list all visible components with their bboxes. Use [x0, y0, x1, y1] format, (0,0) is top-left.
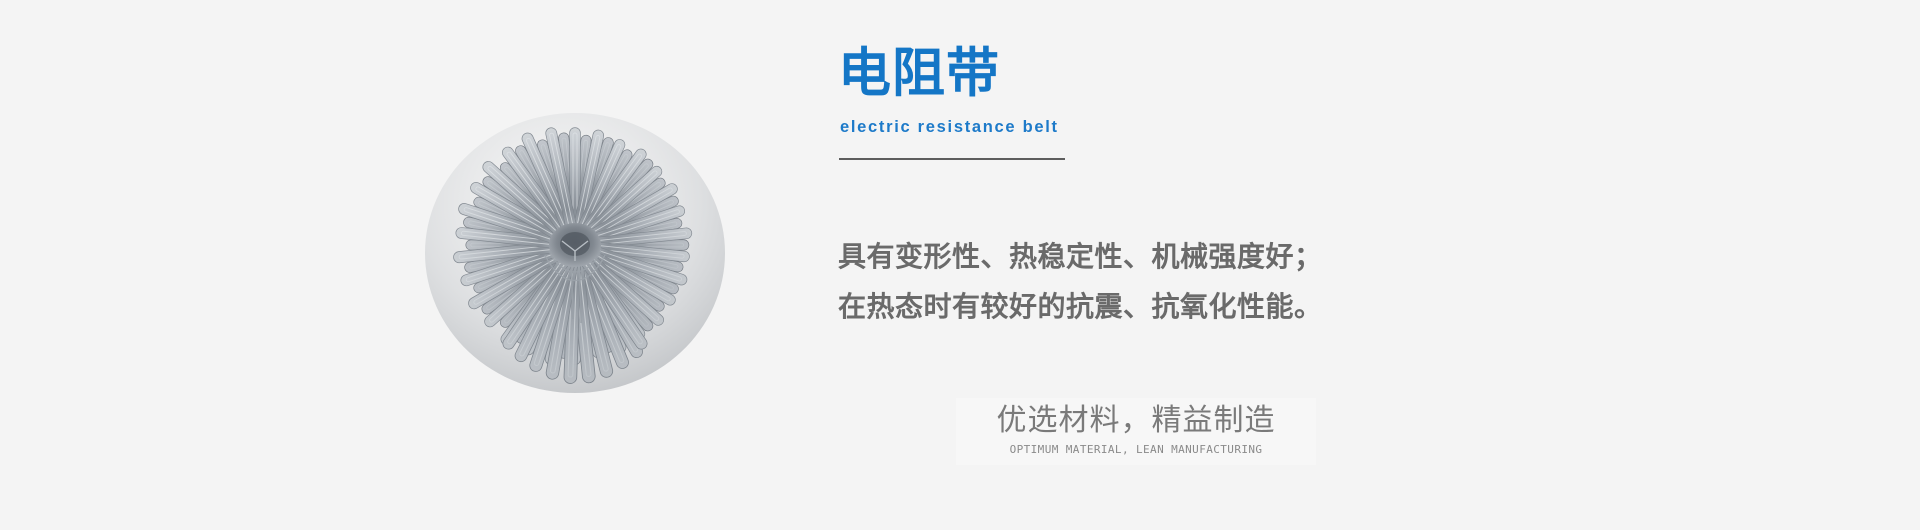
tagline-block: 优选材料，精益制造 OPTIMUM MATERIAL, LEAN MANUFAC…: [956, 398, 1316, 465]
banner-content: 电阻带 electric resistance belt 具有变形性、热稳定性、…: [838, 0, 1738, 530]
heading-block: 电阻带 electric resistance belt: [838, 45, 1438, 160]
page-title: 电阻带: [838, 45, 1438, 103]
product-image: [355, 55, 795, 475]
page-subtitle: electric resistance belt: [840, 117, 1438, 137]
tagline-chinese: 优选材料，精益制造: [966, 402, 1306, 440]
tagline-english: OPTIMUM MATERIAL, LEAN MANUFACTURING: [966, 443, 1306, 457]
product-description: 具有变形性、热稳定性、机械强度好； 在热态时有较好的抗震、抗氧化性能。: [838, 232, 1478, 332]
product-banner: 电阻带 electric resistance belt 具有变形性、热稳定性、…: [0, 0, 1920, 530]
title-divider: [839, 158, 1065, 160]
description-line: 具有变形性、热稳定性、机械强度好；: [838, 232, 1478, 282]
description-line: 在热态时有较好的抗震、抗氧化性能。: [838, 282, 1478, 332]
